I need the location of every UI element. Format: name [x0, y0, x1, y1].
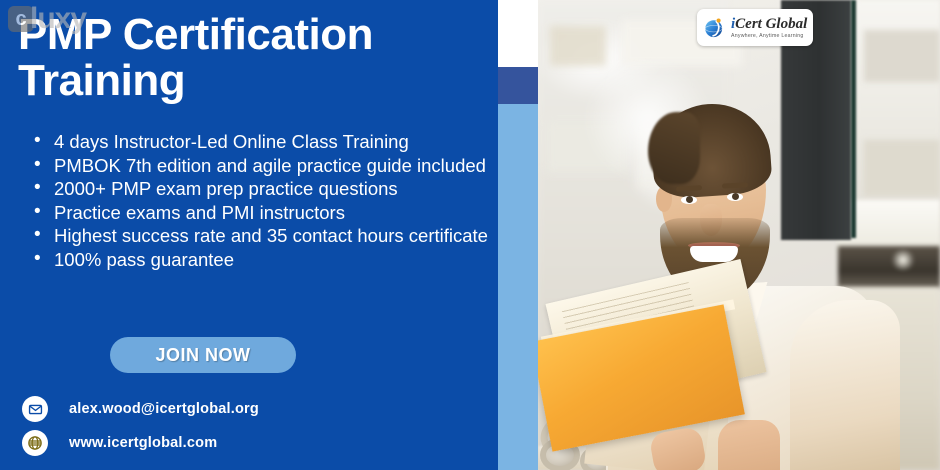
title-line-2: Training: [18, 58, 488, 104]
mouth: [690, 246, 738, 262]
accent-stripe-light-blue: [498, 104, 538, 470]
logo-text: iCert Global Anywhere, Anytime Learning: [731, 16, 807, 39]
accent-stripe-mid-blue: [498, 67, 538, 104]
website-text: www.icertglobal.com: [69, 435, 217, 451]
pupil: [732, 193, 739, 200]
globe-icon: [22, 430, 48, 456]
contact-row-website[interactable]: www.icertglobal.com: [22, 430, 259, 456]
contact-row-email[interactable]: alex.wood@icertglobal.org: [22, 396, 259, 422]
accent-stripe-column: [498, 0, 538, 470]
logo-name: iCert Global: [731, 16, 807, 32]
shoulder: [790, 300, 900, 470]
pupil: [686, 196, 693, 203]
promo-banner: PMP Certification Training 4 days Instru…: [0, 0, 940, 470]
hair-side: [648, 112, 700, 184]
accent-stripe-white: [498, 0, 538, 67]
contact-block: alex.wood@icertglobal.org www.icertgloba…: [22, 396, 259, 464]
join-now-button[interactable]: JOIN NOW: [110, 337, 296, 373]
brand-logo[interactable]: iCert Global Anywhere, Anytime Learning: [697, 9, 813, 46]
email-text: alex.wood@icertglobal.org: [69, 401, 259, 417]
list-item: 100% pass guarantee: [28, 248, 498, 272]
list-item: PMBOK 7th edition and agile practice gui…: [28, 154, 498, 178]
logo-name-rest: Cert Global: [735, 16, 807, 32]
hand: [718, 420, 780, 470]
list-item: 4 days Instructor-Led Online Class Train…: [28, 130, 498, 154]
list-item: 2000+ PMP exam prep practice questions: [28, 177, 498, 201]
icert-globe-icon: [702, 15, 728, 41]
list-item: Highest success rate and 35 contact hour…: [28, 224, 498, 248]
cluxy-watermark-text: luxy: [30, 2, 86, 36]
envelope-icon: [22, 396, 48, 422]
feature-list: 4 days Instructor-Led Online Class Train…: [28, 130, 498, 271]
list-item: Practice exams and PMI instructors: [28, 201, 498, 225]
logo-tagline: Anywhere, Anytime Learning: [731, 34, 807, 39]
cluxy-watermark: c luxy: [8, 2, 86, 36]
page-title: PMP Certification Training: [18, 12, 488, 104]
